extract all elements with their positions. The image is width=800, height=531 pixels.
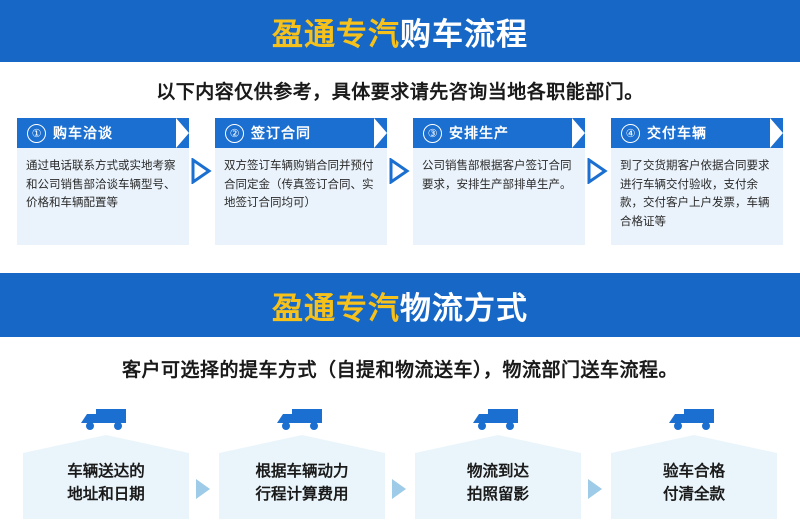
step-header: ① 购车洽谈	[17, 118, 189, 148]
purchase-steps-list: ① 购车洽谈 通过电话联系方式或实地考察和公司销售部洽谈车辆型号、价格和车辆配置…	[0, 118, 800, 245]
chevron-right-icon	[581, 399, 611, 501]
logistics-line2: 行程计算费用	[255, 486, 348, 503]
logistics-steps-list: 车辆送达的 地址和日期 根据车辆动力 行程计算费用	[0, 399, 800, 519]
logistics-card: 物流到达 拍照留影	[415, 399, 581, 519]
logistics-plate: 物流到达 拍照留影	[415, 435, 581, 519]
truck-icon	[611, 399, 777, 433]
logistics-line2: 地址和日期	[67, 486, 145, 503]
section2-header-band: 盈通专汽物流方式	[0, 273, 800, 337]
logistics-line1: 物流到达	[467, 463, 529, 480]
section2-title: 盈通专汽物流方式	[272, 283, 528, 328]
section1-header-band: 盈通专汽购车流程	[0, 0, 800, 62]
chevron-right-icon	[189, 399, 219, 501]
step-body-text: 通过电话联系方式或实地考察和公司销售部洽谈车辆型号、价格和车辆配置等	[17, 148, 189, 245]
logistics-text: 物流到达 拍照留影	[467, 448, 529, 507]
step-title: 安排生产	[449, 123, 509, 143]
logistics-card: 车辆送达的 地址和日期	[23, 399, 189, 519]
step-title: 交付车辆	[647, 123, 707, 143]
section2-title-rest: 物流方式	[400, 291, 528, 326]
step-title: 签订合同	[251, 123, 311, 143]
step-number-badge: ③	[423, 124, 442, 143]
chevron-right-icon	[385, 399, 415, 501]
step-body-text: 双方签订车辆购销合同并预付合同定金（传真签订合同、实地签订合同均可）	[215, 148, 387, 245]
step-card: ④ 交付车辆 到了交货期客户依据合同要求进行车辆交付验收，支付余款，交付客户上户…	[611, 118, 783, 245]
chevron-right-icon	[189, 118, 215, 184]
step-card: ② 签订合同 双方签订车辆购销合同并预付合同定金（传真签订合同、实地签订合同均可…	[215, 118, 387, 245]
logistics-line1: 验车合格	[663, 463, 725, 480]
step-card: ③ 安排生产 公司销售部根据客户签订合同要求，安排生产部排单生产。	[413, 118, 585, 245]
step-title: 购车洽谈	[53, 123, 113, 143]
logistics-text: 根据车辆动力 行程计算费用	[255, 448, 348, 507]
truck-icon	[415, 399, 581, 433]
logistics-line1: 根据车辆动力	[255, 463, 348, 480]
step-number-badge: ②	[225, 124, 244, 143]
truck-icon	[219, 399, 385, 433]
logistics-card: 根据车辆动力 行程计算费用	[219, 399, 385, 519]
section2-title-accent: 盈通专汽	[272, 291, 400, 326]
logistics-plate: 根据车辆动力 行程计算费用	[219, 435, 385, 519]
logistics-line2: 付清全款	[663, 486, 725, 503]
section-divider	[0, 245, 800, 273]
logistics-text: 车辆送达的 地址和日期	[67, 448, 145, 507]
step-card: ① 购车洽谈 通过电话联系方式或实地考察和公司销售部洽谈车辆型号、价格和车辆配置…	[17, 118, 189, 245]
section2-subtitle-row: 客户可选择的提车方式（自提和物流送车），物流部门送车流程。	[0, 337, 800, 399]
truck-icon	[23, 399, 189, 433]
logistics-text: 验车合格 付清全款	[663, 448, 725, 507]
logistics-plate: 验车合格 付清全款	[611, 435, 777, 519]
section2-subtitle: 客户可选择的提车方式（自提和物流送车），物流部门送车流程。	[122, 355, 678, 382]
logistics-line2: 拍照留影	[467, 486, 529, 503]
logistics-card: 验车合格 付清全款	[611, 399, 777, 519]
section1-title-rest: 购车流程	[400, 17, 528, 52]
section1-subtitle-row: 以下内容仅供参考，具体要求请先咨询当地各职能部门。	[0, 62, 800, 118]
step-body-text: 公司销售部根据客户签订合同要求，安排生产部排单生产。	[413, 148, 585, 245]
step-header: ③ 安排生产	[413, 118, 585, 148]
chevron-right-icon	[387, 118, 413, 184]
section1-title-accent: 盈通专汽	[272, 17, 400, 52]
step-number-badge: ④	[621, 124, 640, 143]
section1-subtitle: 以下内容仅供参考，具体要求请先咨询当地各职能部门。	[156, 77, 644, 104]
chevron-right-icon	[585, 118, 611, 184]
step-header: ④ 交付车辆	[611, 118, 783, 148]
step-number-badge: ①	[27, 124, 46, 143]
section1-title: 盈通专汽购车流程	[272, 9, 528, 54]
logistics-line1: 车辆送达的	[67, 463, 145, 480]
step-body-text: 到了交货期客户依据合同要求进行车辆交付验收，支付余款，交付客户上户发票，车辆合格…	[611, 148, 783, 245]
logistics-plate: 车辆送达的 地址和日期	[23, 435, 189, 519]
step-header: ② 签订合同	[215, 118, 387, 148]
